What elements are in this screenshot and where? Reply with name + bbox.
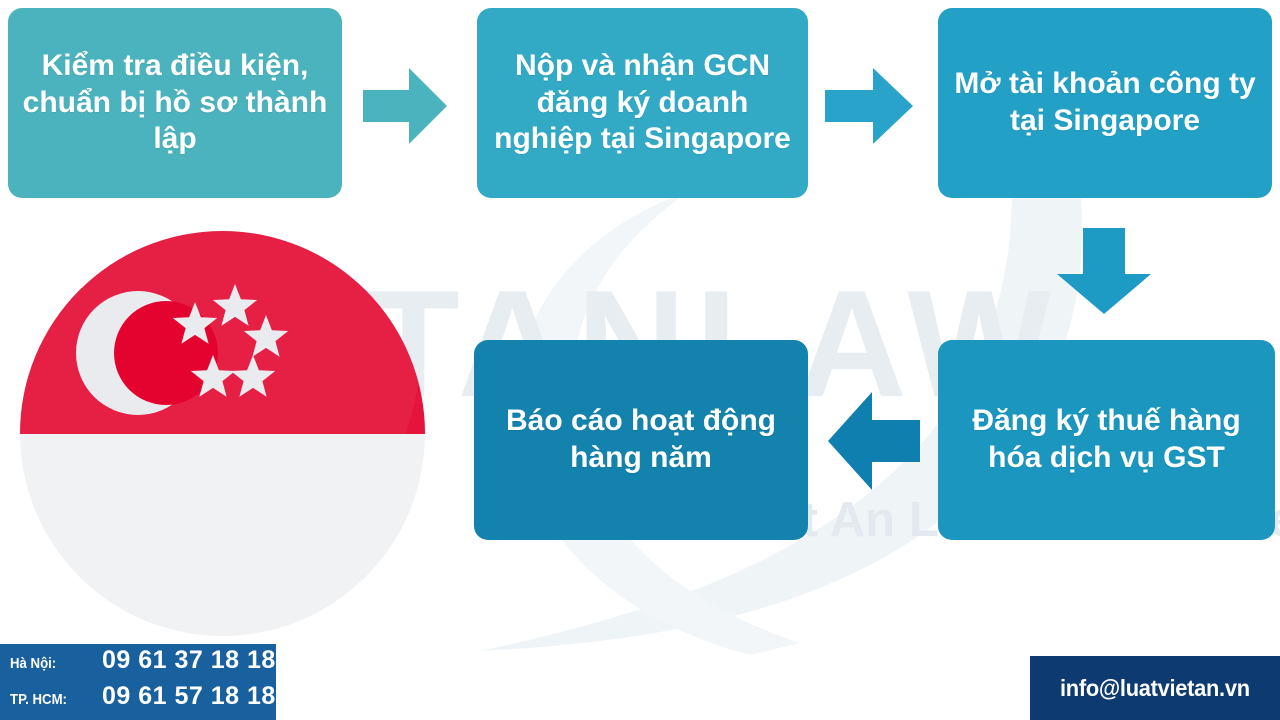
process-step-5-label: Báo cáo hoạt động hàng năm xyxy=(488,403,794,476)
process-step-3[interactable]: Mở tài khoản công ty tại Singapore xyxy=(938,8,1272,198)
footer-phone-number-hanoi[interactable]: 09 61 37 18 18 xyxy=(102,646,276,675)
footer-phone-row-hcm: TP. HCM: 09 61 57 18 18 xyxy=(10,682,268,718)
footer-phone-row-hanoi: Hà Nội: 09 61 37 18 18 xyxy=(10,646,268,682)
singapore-flag-svg xyxy=(20,231,425,636)
process-step-2[interactable]: Nộp và nhận GCN đăng ký doanh nghiệp tại… xyxy=(477,8,808,198)
process-step-4-label: Đăng ký thuế hàng hóa dịch vụ GST xyxy=(952,403,1261,476)
footer-phone-label-hanoi: Hà Nội: xyxy=(10,655,84,672)
process-step-5[interactable]: Báo cáo hoạt động hàng năm xyxy=(474,340,808,540)
singapore-flag xyxy=(20,231,425,636)
arrow-down-icon xyxy=(1057,228,1151,314)
footer-phone-number-hcm[interactable]: 09 61 57 18 18 xyxy=(102,682,276,711)
process-step-1[interactable]: Kiểm tra điều kiện, chuẩn bị hồ sơ thành… xyxy=(8,8,342,198)
process-step-2-label: Nộp và nhận GCN đăng ký doanh nghiệp tại… xyxy=(491,48,794,158)
infographic-canvas: VIETANLAW Find Viet An Law. Find answers… xyxy=(0,0,1280,720)
footer-phone-label-hcm: TP. HCM: xyxy=(10,691,84,708)
process-step-1-label: Kiểm tra điều kiện, chuẩn bị hồ sơ thành… xyxy=(22,48,328,158)
arrow-left-icon xyxy=(828,392,920,490)
process-step-4[interactable]: Đăng ký thuế hàng hóa dịch vụ GST xyxy=(938,340,1275,540)
process-step-3-label: Mở tài khoản công ty tại Singapore xyxy=(952,66,1258,139)
footer-email-text: info@luatvietan.vn xyxy=(1060,675,1250,702)
footer-email-block[interactable]: info@luatvietan.vn xyxy=(1030,656,1280,720)
footer-phone-block: Hà Nội: 09 61 37 18 18 TP. HCM: 09 61 57… xyxy=(0,644,276,720)
arrow-right-icon-2 xyxy=(825,68,913,144)
arrow-right-icon-1 xyxy=(363,68,447,144)
